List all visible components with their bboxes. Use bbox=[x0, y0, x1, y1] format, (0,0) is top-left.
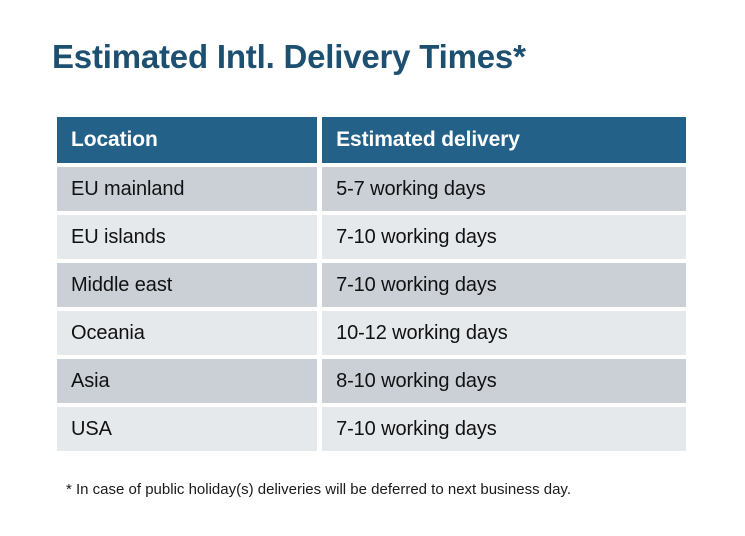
page-title: Estimated Intl. Delivery Times* bbox=[52, 36, 526, 78]
footnote-text: * In case of public holiday(s) deliverie… bbox=[66, 480, 571, 500]
column-header-estimated-delivery: Estimated delivery bbox=[322, 117, 686, 163]
cell-estimated-delivery: 8-10 working days bbox=[322, 359, 686, 403]
table-header-row: Location Estimated delivery bbox=[57, 117, 686, 163]
delivery-times-table: Location Estimated delivery EU mainland … bbox=[52, 113, 691, 455]
cell-location: EU mainland bbox=[57, 167, 317, 211]
cell-estimated-delivery: 7-10 working days bbox=[322, 215, 686, 259]
cell-estimated-delivery: 5-7 working days bbox=[322, 167, 686, 211]
cell-estimated-delivery: 10-12 working days bbox=[322, 311, 686, 355]
cell-estimated-delivery: 7-10 working days bbox=[322, 263, 686, 307]
cell-estimated-delivery: 7-10 working days bbox=[322, 407, 686, 451]
table-row: EU mainland 5-7 working days bbox=[57, 167, 686, 211]
table-row: Asia 8-10 working days bbox=[57, 359, 686, 403]
cell-location: Middle east bbox=[57, 263, 317, 307]
cell-location: Oceania bbox=[57, 311, 317, 355]
table-row: EU islands 7-10 working days bbox=[57, 215, 686, 259]
table-row: USA 7-10 working days bbox=[57, 407, 686, 451]
cell-location: Asia bbox=[57, 359, 317, 403]
cell-location: USA bbox=[57, 407, 317, 451]
table-row: Middle east 7-10 working days bbox=[57, 263, 686, 307]
cell-location: EU islands bbox=[57, 215, 317, 259]
delivery-times-card: Estimated Intl. Delivery Times* Location… bbox=[0, 0, 745, 536]
table-row: Oceania 10-12 working days bbox=[57, 311, 686, 355]
column-header-location: Location bbox=[57, 117, 317, 163]
